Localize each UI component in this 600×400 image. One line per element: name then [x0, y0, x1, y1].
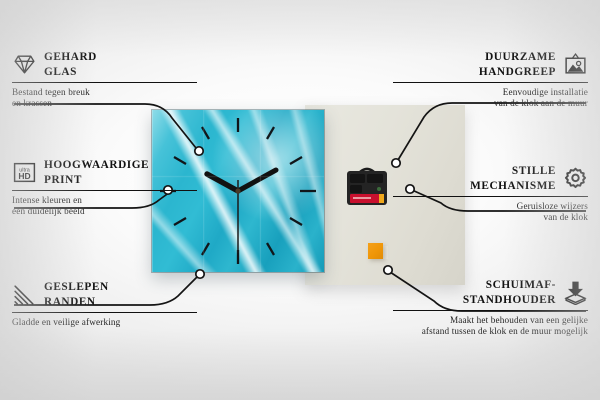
desc-line-1: Bestand tegen breuk [12, 87, 90, 97]
title-line-2: PRINT [44, 174, 82, 186]
title-line-1: STILLE [512, 165, 556, 177]
movement-detail-a [350, 174, 365, 183]
feature-description: Eenvoudige installatie van de klok aan d… [393, 87, 588, 110]
feature-title: HOOGWAARDIGE PRINT [44, 158, 149, 187]
desc-line-2: van de klok [543, 212, 588, 222]
feature-description: Bestand tegen breuk en krassen [12, 87, 197, 110]
diamond-icon [12, 52, 37, 77]
desc-line-2: afstand tussen de klok en de muur mogeli… [422, 326, 588, 336]
battery-label [353, 197, 371, 199]
divider [393, 82, 588, 83]
feature-stille-mechanisme: STILLE MECHANISME Geruisloze wijzers van… [393, 164, 588, 224]
clock-movement [345, 167, 389, 209]
feature-heading: GESLEPEN RANDEN [12, 280, 197, 309]
feature-geslepen-randen: GESLEPEN RANDEN Gladde en veilige afwerk… [12, 280, 197, 328]
feature-title: GESLEPEN RANDEN [44, 280, 109, 309]
feature-heading: ultra HD HOOGWAARDIGE PRINT [12, 158, 197, 187]
title-line-1: SCHUIMAF- [486, 279, 556, 291]
desc-line-1: Intense kleuren en [12, 195, 82, 205]
divider [393, 310, 588, 311]
divider [393, 196, 588, 197]
desc-line-1: Maakt het behouden van een gelijke [450, 315, 588, 325]
feature-gehard-glas: GEHARD GLAS Bestand tegen breuk en krass… [12, 50, 197, 110]
title-line-2: MECHANISME [470, 180, 556, 192]
ultra-hd-icon: ultra HD [12, 160, 37, 185]
divider [12, 190, 197, 191]
feature-duurzame-handgreep: DUURZAME HANDGREEP Eenvoudige installati… [393, 50, 588, 110]
feature-description: Gladde en veilige afwerking [12, 317, 197, 328]
title-line-1: GESLEPEN [44, 281, 109, 293]
divider [12, 312, 197, 313]
feature-heading: DUURZAME HANDGREEP [393, 50, 588, 79]
desc-line-2: en krassen [12, 98, 52, 108]
title-line-2: STANDHOUDER [463, 294, 556, 306]
infographic-stage: GEHARD GLAS Bestand tegen breuk en krass… [0, 0, 600, 400]
movement-detail-c [350, 185, 362, 193]
feature-title: DUURZAME HANDGREEP [479, 50, 556, 79]
picture-frame-icon [563, 52, 588, 77]
title-line-2: GLAS [44, 66, 77, 78]
movement-detail-b [367, 174, 383, 183]
desc-line-1: Gladde en veilige afwerking [12, 317, 120, 327]
icon-text-hd: HD [18, 171, 30, 181]
title-line-2: RANDEN [44, 296, 96, 308]
battery-terminal [379, 194, 384, 203]
feature-description: Geruisloze wijzers van de klok [393, 201, 588, 224]
feature-description: Maakt het behouden van een gelijke afsta… [393, 315, 588, 338]
desc-line-2: van de klok aan de muur [494, 98, 588, 108]
title-line-2: HANDGREEP [479, 66, 556, 78]
hour-hand [207, 174, 238, 191]
feature-heading: SCHUIMAF- STANDHOUDER [393, 278, 588, 307]
feature-title: SCHUIMAF- STANDHOUDER [463, 278, 556, 307]
title-line-1: HOOGWAARDIGE [44, 159, 149, 171]
gear-icon [563, 166, 588, 191]
feature-schuimafstandhouder: SCHUIMAF- STANDHOUDER Maakt het behouden… [393, 278, 588, 338]
title-line-1: DUURZAME [485, 51, 556, 63]
feature-heading: STILLE MECHANISME [393, 164, 588, 193]
movement-contact [377, 187, 381, 191]
divider [12, 82, 197, 83]
desc-line-1: Eenvoudige installatie [503, 87, 588, 97]
desc-line-2: een duidelijk beeld [12, 206, 85, 216]
minute-hand [238, 170, 276, 191]
feature-title: STILLE MECHANISME [470, 164, 556, 193]
beveled-edge-icon [12, 282, 37, 307]
clock-center-cap [235, 188, 240, 193]
feature-title: GEHARD GLAS [44, 50, 97, 79]
title-line-1: GEHARD [44, 51, 97, 63]
foam-spacer [368, 243, 383, 259]
feature-heading: GEHARD GLAS [12, 50, 197, 79]
feature-description: Intense kleuren en een duidelijk beeld [12, 195, 197, 218]
desc-line-1: Geruisloze wijzers [517, 201, 588, 211]
down-arrow-spacer-icon [563, 280, 588, 305]
feature-hoogwaardige-print: ultra HD HOOGWAARDIGE PRINT Intense kleu… [12, 158, 197, 218]
